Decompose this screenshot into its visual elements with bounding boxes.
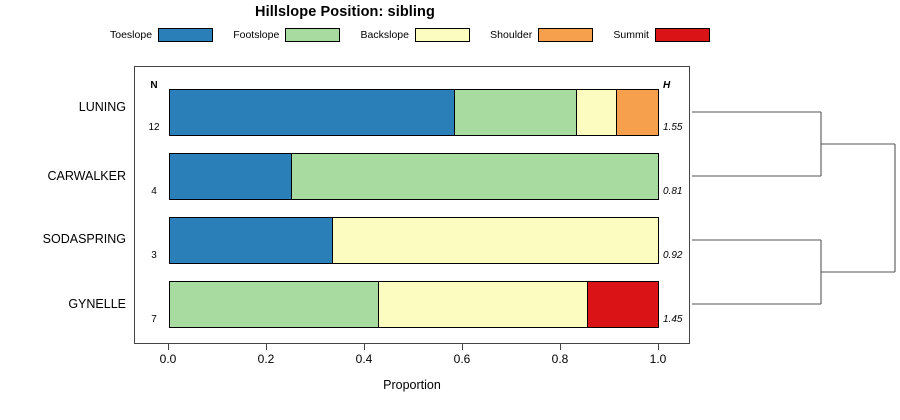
n-value-carwalker: 4 bbox=[141, 186, 167, 197]
legend-label: Shoulder bbox=[490, 29, 532, 41]
legend-item-backslope: Backslope bbox=[361, 28, 470, 42]
y-axis-label-sodaspring: SODASPRING bbox=[0, 232, 126, 246]
n-column-header: N bbox=[141, 80, 167, 91]
h-value-carwalker: 0.81 bbox=[663, 186, 693, 197]
bar-segment-shoulder bbox=[617, 90, 658, 135]
h-column-header: H bbox=[663, 80, 689, 91]
n-value-luning: 12 bbox=[141, 122, 167, 133]
legend-swatch-backslope bbox=[415, 28, 470, 42]
x-tick-mark bbox=[168, 344, 169, 350]
legend-swatch-shoulder bbox=[538, 28, 593, 42]
legend: Toeslope Footslope Backslope Shoulder Su… bbox=[110, 26, 710, 43]
plot-panel: N H 12 1.55 4 0.81 3 0.92 7 1.45 bbox=[134, 66, 690, 344]
legend-label: Summit bbox=[613, 29, 649, 41]
x-axis: 0.00.20.40.60.81.0 bbox=[134, 344, 690, 404]
hillslope-position-figure: Hillslope Position: sibling Toeslope Foo… bbox=[0, 0, 900, 420]
legend-swatch-toeslope bbox=[158, 28, 213, 42]
h-value-gynelle: 1.45 bbox=[663, 314, 693, 325]
dendrogram-svg bbox=[690, 66, 900, 344]
y-axis-label-luning: LUNING bbox=[0, 100, 126, 114]
legend-item-toeslope: Toeslope bbox=[110, 28, 213, 42]
x-tick-mark bbox=[462, 344, 463, 350]
bar-segment-backslope bbox=[577, 90, 618, 135]
dendrogram bbox=[690, 66, 900, 344]
legend-label: Toeslope bbox=[110, 29, 152, 41]
n-value-sodaspring: 3 bbox=[141, 250, 167, 261]
bar-segment-footslope bbox=[292, 154, 658, 199]
x-tick-mark bbox=[266, 344, 267, 350]
y-axis-label-carwalker: CARWALKER bbox=[0, 169, 126, 183]
bar-segment-footslope bbox=[170, 282, 379, 327]
legend-label: Footslope bbox=[233, 29, 279, 41]
legend-item-summit: Summit bbox=[613, 28, 710, 42]
stacked-bar-sodaspring bbox=[169, 217, 659, 264]
legend-label: Backslope bbox=[361, 29, 409, 41]
x-tick-label: 1.0 bbox=[638, 352, 678, 366]
legend-swatch-footslope bbox=[285, 28, 340, 42]
y-axis-label-gynelle: GYNELLE bbox=[0, 297, 126, 311]
x-tick-label: 0.6 bbox=[442, 352, 482, 366]
bar-row bbox=[169, 281, 659, 328]
x-tick-label: 0.2 bbox=[246, 352, 286, 366]
bar-segment-summit bbox=[588, 282, 658, 327]
legend-item-footslope: Footslope bbox=[233, 28, 340, 42]
legend-item-shoulder: Shoulder bbox=[490, 28, 593, 42]
x-tick-mark bbox=[364, 344, 365, 350]
x-tick-label: 0.4 bbox=[344, 352, 384, 366]
bar-row bbox=[169, 217, 659, 264]
bar-row bbox=[169, 153, 659, 200]
stacked-bar-carwalker bbox=[169, 153, 659, 200]
bar-segment-footslope bbox=[455, 90, 577, 135]
bar-segment-toeslope bbox=[170, 154, 292, 199]
bar-segment-backslope bbox=[379, 282, 588, 327]
stacked-bar-gynelle bbox=[169, 281, 659, 328]
page-title: Hillslope Position: sibling bbox=[0, 4, 690, 20]
n-value-gynelle: 7 bbox=[141, 314, 167, 325]
bar-segment-backslope bbox=[333, 218, 658, 263]
x-tick-mark bbox=[658, 344, 659, 350]
stacked-bar-luning bbox=[169, 89, 659, 136]
x-tick-mark bbox=[560, 344, 561, 350]
x-tick-label: 0.8 bbox=[540, 352, 580, 366]
x-axis-title: Proportion bbox=[134, 378, 690, 392]
bar-segment-toeslope bbox=[170, 218, 333, 263]
h-value-luning: 1.55 bbox=[663, 122, 693, 133]
bar-row bbox=[169, 89, 659, 136]
legend-swatch-summit bbox=[655, 28, 710, 42]
x-tick-label: 0.0 bbox=[148, 352, 188, 366]
h-value-sodaspring: 0.92 bbox=[663, 250, 693, 261]
bar-segment-toeslope bbox=[170, 90, 455, 135]
